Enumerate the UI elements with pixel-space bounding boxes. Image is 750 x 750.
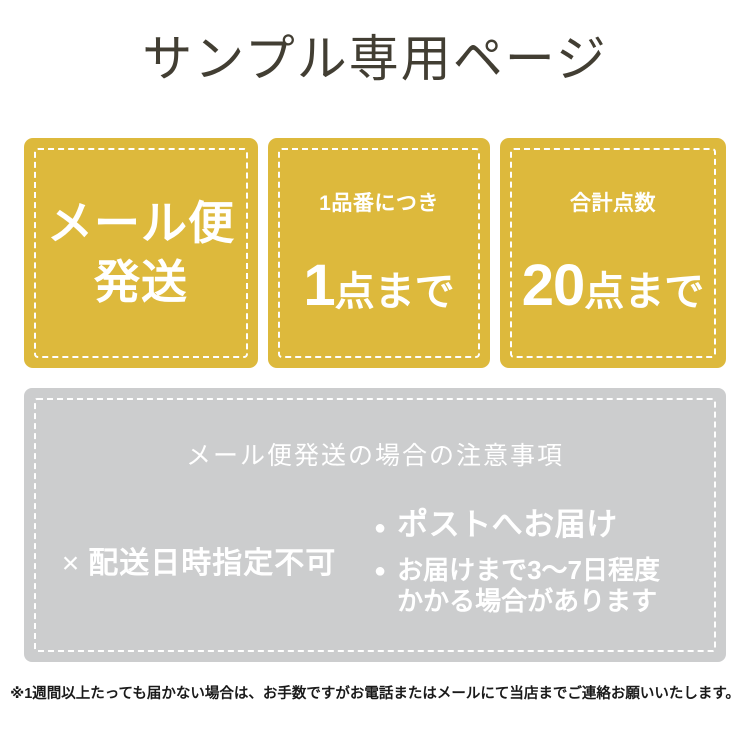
- shipping-method-line-2: 発送: [24, 253, 258, 312]
- per-item-limit-unit: 点まで: [335, 272, 455, 312]
- feature-card-row: メール便 発送 1品番につき 1 点まで 合計点数 20: [24, 138, 726, 368]
- bullet-dot-icon: ●: [374, 555, 386, 581]
- feature-card-per-item-limit: 1品番につき 1 点まで: [268, 138, 490, 368]
- feature-card-shipping-method: メール便 発送: [24, 138, 258, 368]
- notice-restriction-text: 配送日時指定不可: [88, 547, 336, 580]
- notice-bullet-item: ● お届けまで3〜7日程度 かかる場合があります: [374, 555, 726, 618]
- cross-mark-icon: ×: [62, 547, 81, 580]
- total-limit-label: 合計点数: [500, 191, 726, 216]
- feature-card-content: メール便 発送: [24, 194, 258, 312]
- notice-bullet-list: ● ポストへお届け ● お届けまで3〜7日程度 かかる場合があります: [374, 506, 726, 630]
- notice-body: ×配送日時指定不可 ● ポストへお届け ● お届けまで3〜7日程度 かかる場合が…: [24, 506, 726, 646]
- per-item-limit-label: 1品番につき: [268, 191, 490, 216]
- feature-card-total-limit: 合計点数 20 点まで: [500, 138, 726, 368]
- bullet-dot-icon: ●: [374, 508, 386, 538]
- notice-bullet-text: ポストへお届け: [397, 508, 618, 543]
- page-title: サンプル専用ページ: [0, 28, 750, 91]
- per-item-limit-number: 1: [303, 257, 334, 315]
- total-limit-value: 20 点まで: [500, 257, 726, 315]
- notice-bullet-item: ● ポストへお届け: [374, 508, 726, 543]
- notice-restriction: ×配送日時指定不可: [24, 506, 374, 582]
- notice-heading: メール便発送の場合の注意事項: [24, 436, 726, 472]
- total-limit-unit: 点まで: [584, 272, 704, 312]
- sample-shipping-banner: サンプル専用ページ メール便 発送 1品番につき 1 点まで: [0, 0, 750, 750]
- feature-card-content: 1品番につき 1 点まで: [268, 191, 490, 314]
- notice-bullet-line-2: かかる場合があります: [397, 586, 657, 616]
- per-item-limit-value: 1 点まで: [268, 257, 490, 315]
- footer-note: ※1週間以上たっても届かない場合は、お手数ですがお電話またはメールにて当店までご…: [0, 682, 750, 703]
- notice-panel: メール便発送の場合の注意事項 ×配送日時指定不可 ● ポストへお届け ● お届け…: [24, 388, 726, 662]
- notice-bullet-text: お届けまで3〜7日程度 かかる場合があります: [397, 555, 660, 618]
- shipping-method-text: メール便 発送: [24, 194, 258, 312]
- notice-bullet-line-1: お届けまで3〜7日程度: [397, 555, 660, 585]
- shipping-method-line-1: メール便: [24, 194, 258, 253]
- feature-card-content: 合計点数 20 点まで: [500, 191, 726, 314]
- total-limit-number: 20: [522, 257, 585, 315]
